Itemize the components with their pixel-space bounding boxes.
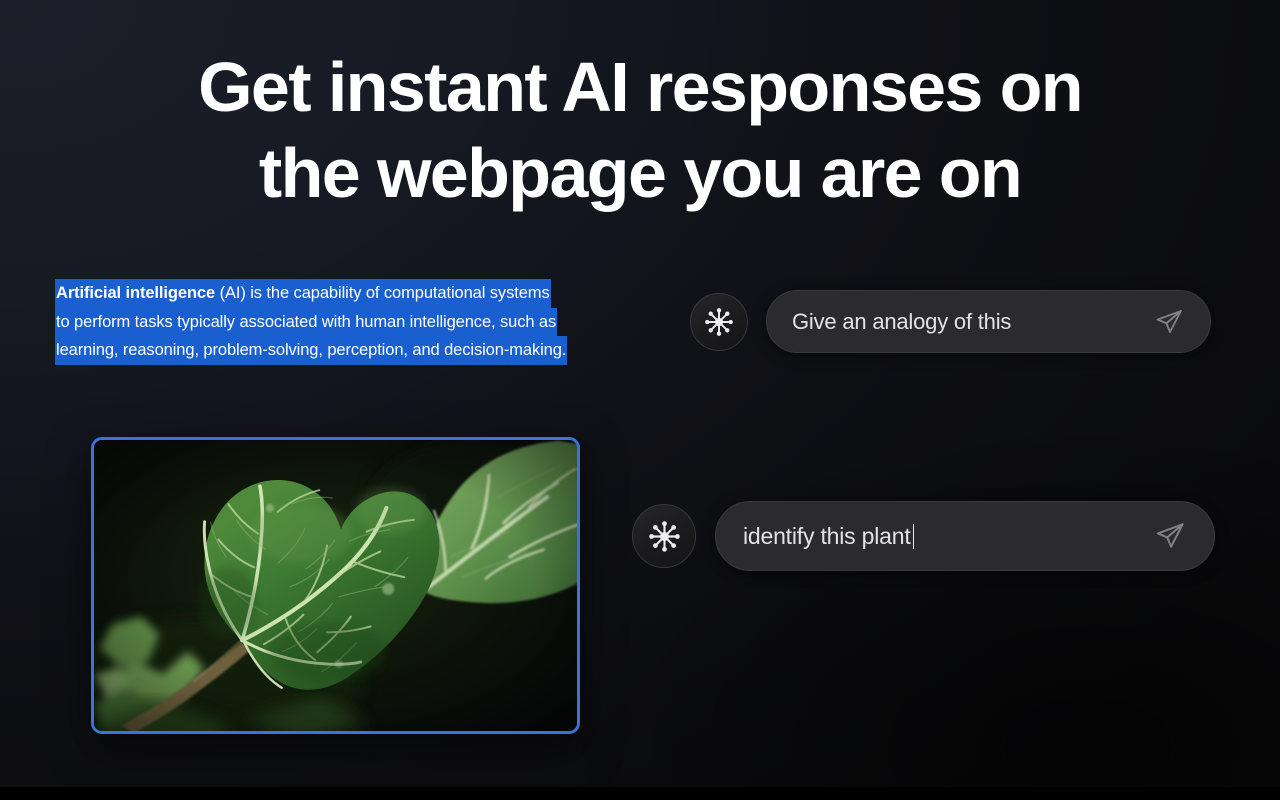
selected-text-line: to perform tasks typically associated wi… xyxy=(55,308,557,337)
selected-text-paren: (AI) xyxy=(220,284,246,302)
screen-root: Get instant AI responses on the webpage … xyxy=(0,0,1280,800)
highlighted-text-block: Artificial intelligence (AI) is the capa… xyxy=(55,279,638,365)
prompt-input-value: Give an analogy of this xyxy=(792,309,1011,335)
selected-text-bold: Artificial intelligence xyxy=(56,284,215,302)
selected-image-card[interactable] xyxy=(91,437,580,734)
prompt-input-analogy[interactable]: Give an analogy of this xyxy=(766,290,1211,353)
sparkle-icon xyxy=(648,520,681,553)
sparkle-icon xyxy=(704,307,734,337)
selected-text-rest: is the capability of computational syste… xyxy=(250,284,549,302)
send-icon[interactable] xyxy=(1154,520,1186,552)
prompt-input-identify[interactable]: identify this plant xyxy=(715,501,1215,571)
sparkle-assistant-button[interactable] xyxy=(632,504,696,568)
send-icon[interactable] xyxy=(1154,307,1184,337)
prompt-row-identify: identify this plant xyxy=(632,501,1215,571)
selected-text-line: Artificial intelligence (AI) is the capa… xyxy=(55,279,551,308)
prompt-row-analogy: Give an analogy of this xyxy=(690,290,1211,353)
prompt-input-value: identify this plant xyxy=(743,523,911,550)
bottom-black-band xyxy=(0,787,1280,800)
text-caret xyxy=(913,524,915,549)
page-title: Get instant AI responses on the webpage … xyxy=(0,44,1280,216)
plant-photo xyxy=(94,440,577,731)
sparkle-assistant-button[interactable] xyxy=(690,293,748,351)
prompt-input-wrap: identify this plant xyxy=(743,523,914,550)
selected-text-line: learning, reasoning, problem-solving, pe… xyxy=(55,336,567,365)
